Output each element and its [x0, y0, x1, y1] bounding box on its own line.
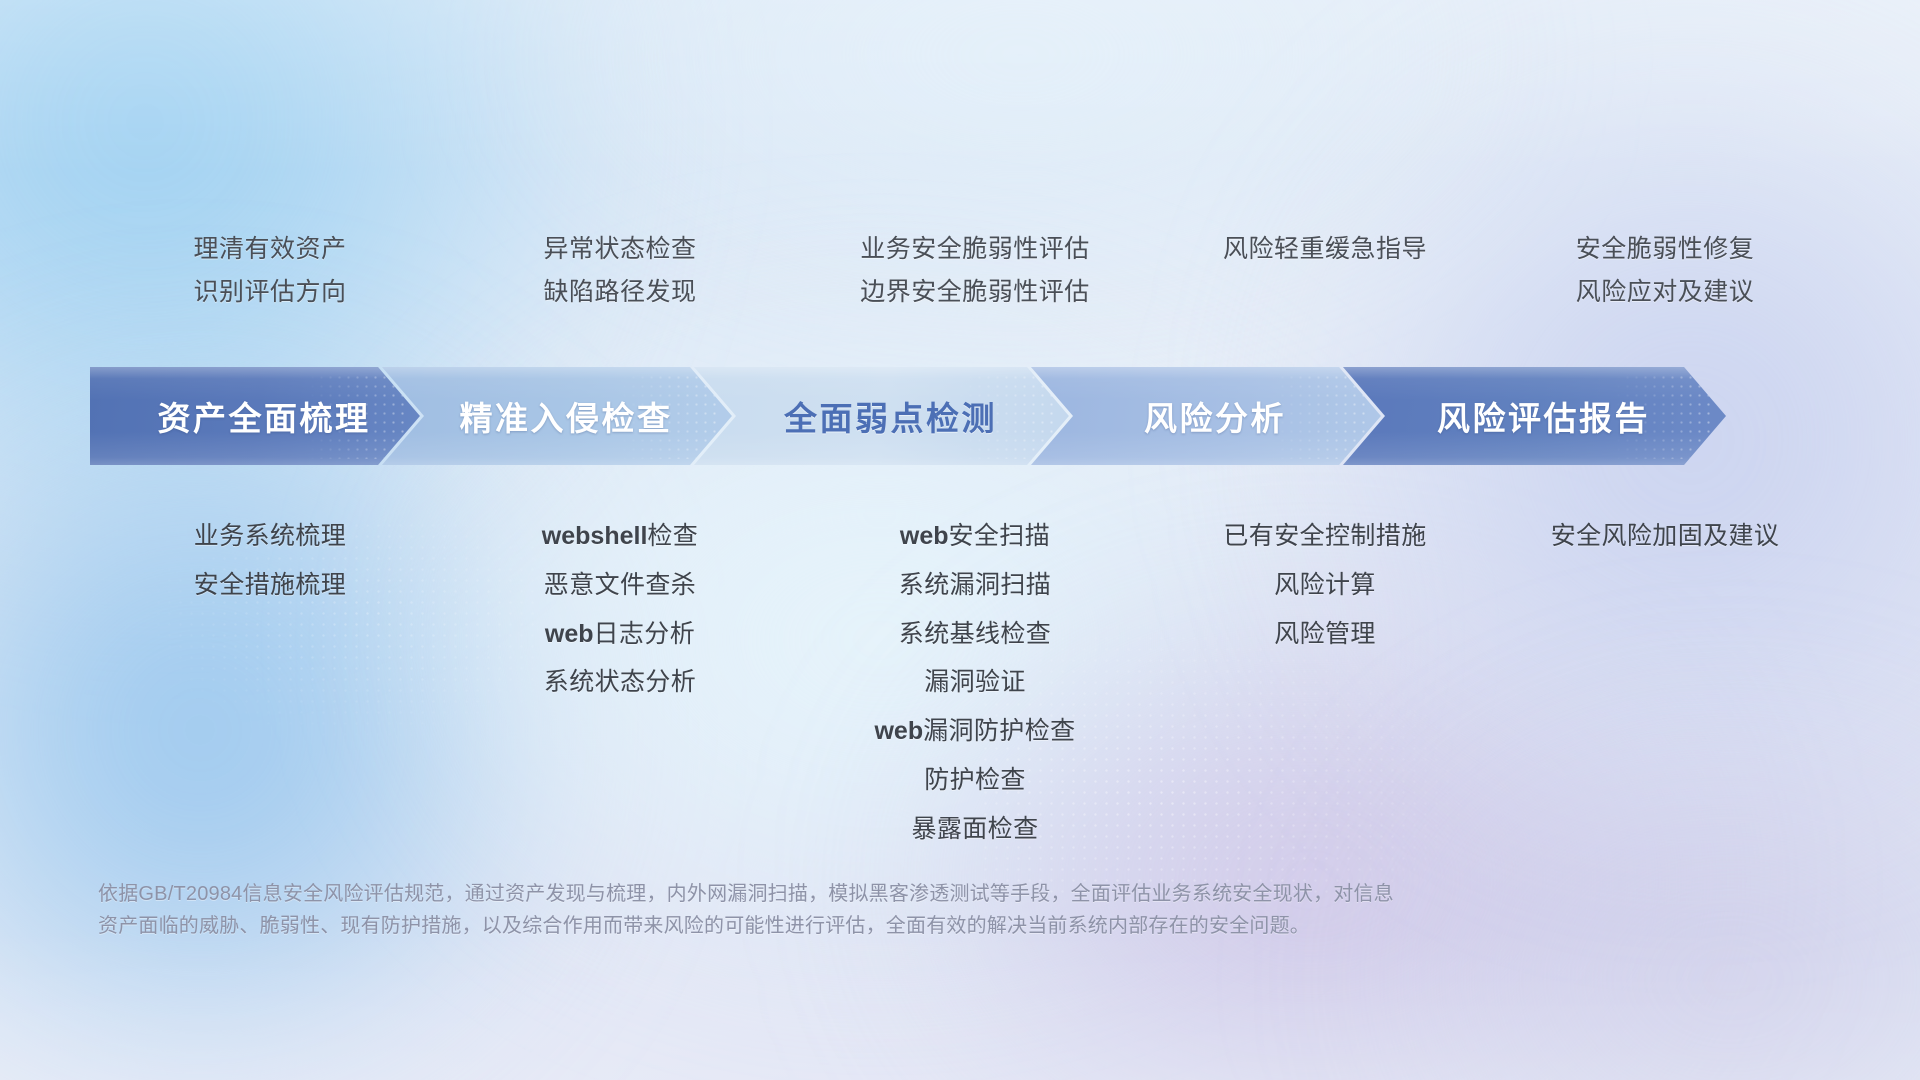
item-zh: 安全风险加固及建议 [1551, 522, 1780, 550]
chevron-label: 资产全面梳理 [140, 392, 371, 440]
item-en: web [545, 620, 594, 648]
item-zh: 暴露面检查 [911, 815, 1038, 843]
item-zh: 检查 [647, 522, 698, 550]
item-zh: 风险管理 [1274, 620, 1376, 648]
list-item: 系统基线检查 [795, 610, 1155, 659]
list-item: 已有安全控制措施 [1155, 512, 1495, 561]
chevron-stage-weakness-detection[interactable]: 全面弱点检测 [694, 367, 1069, 465]
caption-line: 理清有效资产 [95, 228, 445, 271]
item-zh: 风险计算 [1274, 571, 1376, 599]
caption-line: 风险应对及建议 [1495, 271, 1835, 314]
list-item: 系统漏洞扫描 [795, 561, 1155, 610]
top-captions-weakness-detection: 业务安全脆弱性评估 边界安全脆弱性评估 [795, 228, 1155, 314]
list-item: web漏洞防护检查 [795, 707, 1155, 756]
item-zh: 安全措施梳理 [194, 571, 346, 599]
top-captions-assessment-report: 安全脆弱性修复 风险应对及建议 [1495, 228, 1835, 314]
process-diagram: 理清有效资产 识别评估方向 异常状态检查 缺陷路径发现 业务安全脆弱性评估 边界… [0, 0, 1920, 1080]
item-zh: 恶意文件查杀 [544, 571, 696, 599]
list-item: 恶意文件查杀 [445, 561, 795, 610]
list-item: 防护检查 [795, 756, 1155, 805]
stage-chevron-band: 资产全面梳理 精准入侵检查 全面弱点检测 风险分析 风险评估报告 [90, 367, 1840, 465]
caption-line: 缺陷路径发现 [445, 271, 795, 314]
items-intrusion-check: webshell检查 恶意文件查杀 web日志分析 系统状态分析 [445, 512, 795, 707]
footer-description: 依据GB/T20984信息安全风险评估规范，通过资产发现与梳理，内外网漏洞扫描，… [98, 878, 1658, 943]
list-item: 风险管理 [1155, 610, 1495, 659]
list-item: 安全风险加固及建议 [1495, 512, 1835, 561]
top-captions-row: 理清有效资产 识别评估方向 异常状态检查 缺陷路径发现 业务安全脆弱性评估 边界… [95, 228, 1835, 314]
list-item: 漏洞验证 [795, 658, 1155, 707]
item-zh: 安全扫描 [949, 522, 1051, 550]
caption-line: 识别评估方向 [95, 271, 445, 314]
item-zh: 业务系统梳理 [194, 522, 346, 550]
chevron-stage-asset-inventory[interactable]: 资产全面梳理 [90, 367, 420, 465]
list-item: web安全扫描 [795, 512, 1155, 561]
top-captions-risk-analysis: 风险轻重缓急指导 [1155, 228, 1495, 314]
items-asset-inventory: 业务系统梳理 安全措施梳理 [95, 512, 445, 610]
item-zh: 防护检查 [924, 766, 1026, 794]
caption-line: 业务安全脆弱性评估 [795, 228, 1155, 271]
list-item: 暴露面检查 [795, 805, 1155, 854]
top-captions-asset-inventory: 理清有效资产 识别评估方向 [95, 228, 445, 314]
list-item: 风险计算 [1155, 561, 1495, 610]
item-zh: 系统状态分析 [544, 668, 696, 696]
list-item: web日志分析 [445, 610, 795, 659]
items-assessment-report: 安全风险加固及建议 [1495, 512, 1835, 561]
caption-line: 风险轻重缓急指导 [1155, 228, 1495, 271]
list-item: 业务系统梳理 [95, 512, 445, 561]
item-zh: 系统基线检查 [899, 620, 1051, 648]
item-zh: 系统漏洞扫描 [899, 571, 1051, 599]
list-item: 系统状态分析 [445, 658, 795, 707]
items-risk-analysis: 已有安全控制措施 风险计算 风险管理 [1155, 512, 1495, 658]
item-zh: 漏洞防护检查 [923, 717, 1075, 745]
chevron-label: 精准入侵检查 [442, 392, 673, 440]
chevron-stage-risk-analysis[interactable]: 风险分析 [1031, 367, 1381, 465]
items-weakness-detection: web安全扫描 系统漏洞扫描 系统基线检查 漏洞验证 web漏洞防护检查 防护检… [795, 512, 1155, 853]
chevron-label: 风险评估报告 [1419, 392, 1650, 440]
item-zh: 已有安全控制措施 [1223, 522, 1426, 550]
caption-line: 安全脆弱性修复 [1495, 228, 1835, 271]
item-en: web [874, 717, 923, 745]
chevron-label: 全面弱点检测 [766, 392, 997, 440]
footer-line-1: 依据GB/T20984信息安全风险评估规范，通过资产发现与梳理，内外网漏洞扫描，… [98, 878, 1658, 910]
chevron-stage-intrusion-check[interactable]: 精准入侵检查 [382, 367, 732, 465]
chevron-stage-assessment-report[interactable]: 风险评估报告 [1343, 367, 1726, 465]
list-item: 安全措施梳理 [95, 561, 445, 610]
caption-line: 边界安全脆弱性评估 [795, 271, 1155, 314]
stage-items-row: 业务系统梳理 安全措施梳理 webshell检查 恶意文件查杀 web日志分析 … [95, 512, 1835, 853]
list-item: webshell检查 [445, 512, 795, 561]
caption-line: 异常状态检查 [445, 228, 795, 271]
item-en: web [900, 522, 949, 550]
top-captions-intrusion-check: 异常状态检查 缺陷路径发现 [445, 228, 795, 314]
footer-line-2: 资产面临的威胁、脆弱性、现有防护措施，以及综合作用而带来风险的可能性进行评估，全… [98, 910, 1658, 942]
item-en: webshell [542, 522, 648, 550]
item-zh: 漏洞验证 [924, 668, 1026, 696]
chevron-label: 风险分析 [1126, 392, 1286, 440]
item-zh: 日志分析 [594, 620, 696, 648]
